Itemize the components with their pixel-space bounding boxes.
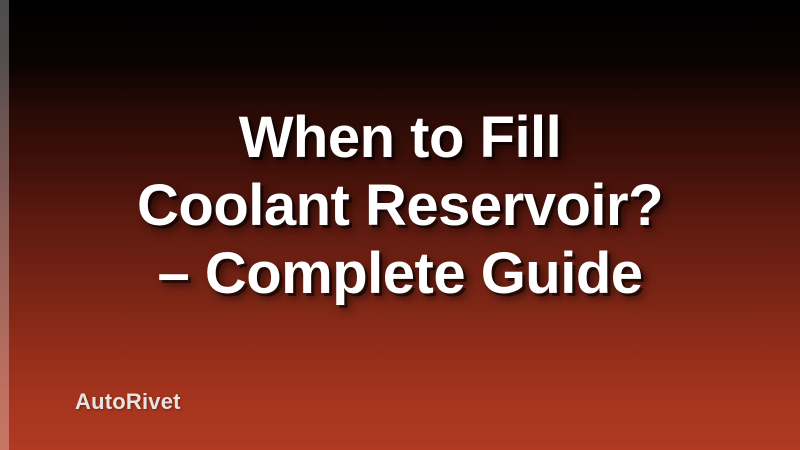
page-title-line-1: When to Fill xyxy=(24,104,776,172)
page-title-line-3: – Complete Guide xyxy=(24,240,776,308)
article-banner: When to Fill Coolant Reservoir? – Comple… xyxy=(0,0,800,450)
banner-content: When to Fill Coolant Reservoir? – Comple… xyxy=(0,0,800,450)
page-title: When to Fill Coolant Reservoir? – Comple… xyxy=(0,104,800,308)
brand-wordmark: AutoRivet xyxy=(75,389,181,415)
page-title-line-2: Coolant Reservoir? xyxy=(24,172,776,240)
